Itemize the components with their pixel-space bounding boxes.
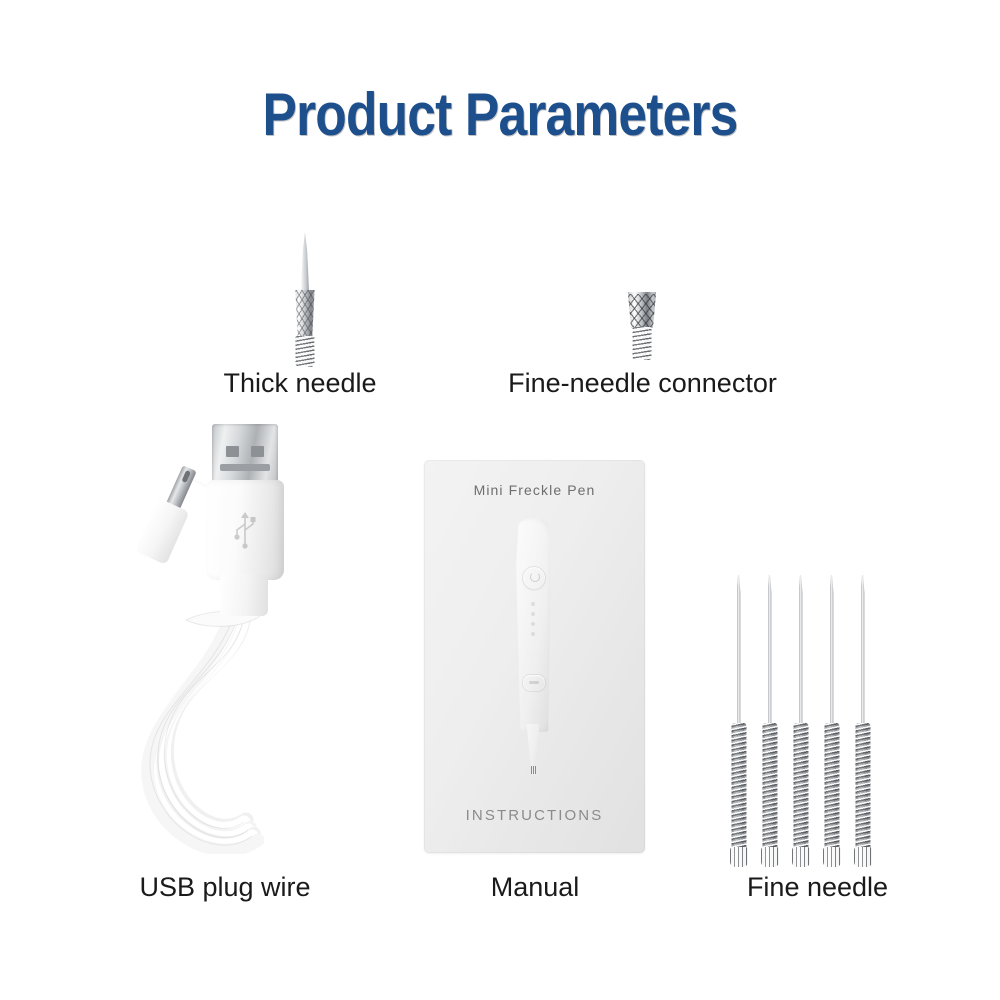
product-parameters-page: Product Parameters Thick needle Fine-nee… xyxy=(0,0,1000,1000)
needle-shaft xyxy=(768,575,772,727)
usb-strain-relief xyxy=(220,574,268,616)
power-button-icon xyxy=(522,566,546,590)
fine-needle-icon xyxy=(823,575,840,870)
needle-shaft xyxy=(830,575,834,727)
level-indicator-dot xyxy=(531,612,535,616)
dc-plug-housing xyxy=(135,498,190,565)
manual-booklet-icon: Mini Freckle Pen INSTRUCTIONS xyxy=(424,460,645,853)
label-manual: Manual xyxy=(420,872,650,902)
needle-end-cap xyxy=(761,847,779,867)
level-indicator-dot xyxy=(531,632,535,636)
needle-shaft xyxy=(861,575,865,727)
metal-connector-icon xyxy=(622,292,662,362)
usb-a-plug-shell xyxy=(212,424,278,484)
fine-needle-set-icon xyxy=(722,575,877,870)
usb-contact-slot xyxy=(251,446,264,457)
connector-knurl-pattern xyxy=(626,294,658,328)
fine-needle-icon xyxy=(854,575,871,870)
needle-end-cap xyxy=(823,847,841,867)
manual-cover-footer: INSTRUCTIONS xyxy=(424,807,645,824)
needle-coil-handle xyxy=(793,723,808,851)
connector-threaded-base xyxy=(633,327,652,360)
needle-coil-handle xyxy=(855,723,870,851)
usb-cable-icon xyxy=(120,424,350,854)
needle-shaft xyxy=(737,575,741,727)
needle-end-cap xyxy=(792,847,810,867)
manual-cover-title: Mini Freckle Pen xyxy=(424,482,645,498)
label-usb-plug-wire: USB plug wire xyxy=(30,872,420,902)
needle-knurl-pattern xyxy=(290,290,320,338)
fine-needle-icon xyxy=(730,575,747,870)
usb-trident-icon xyxy=(232,510,258,550)
page-title: Product Parameters xyxy=(70,84,930,146)
needle-coil-handle xyxy=(762,723,777,851)
level-indicator-dot xyxy=(531,622,535,626)
needle-coil-handle xyxy=(824,723,839,851)
needle-threaded-base xyxy=(296,336,315,367)
needle-shaft xyxy=(799,575,803,727)
usb-contact-slot xyxy=(226,446,239,457)
metal-thick-needle-icon xyxy=(285,232,325,367)
level-indicator-dot xyxy=(531,602,535,606)
fine-needle-icon xyxy=(761,575,778,870)
usb-contact-bar xyxy=(220,464,270,471)
label-thick-needle: Thick needle xyxy=(130,368,470,398)
fine-needle-icon xyxy=(792,575,809,870)
label-fine-needle: Fine needle xyxy=(660,872,975,902)
label-fine-needle-connector: Fine-needle connector xyxy=(455,368,830,398)
needle-cone xyxy=(292,232,318,294)
needle-end-cap xyxy=(730,847,748,867)
needle-end-cap xyxy=(854,847,872,867)
mode-button-icon xyxy=(522,674,546,692)
needle-coil-handle xyxy=(731,723,746,851)
pen-tip xyxy=(531,766,536,774)
freckle-pen-illustration xyxy=(506,518,564,778)
